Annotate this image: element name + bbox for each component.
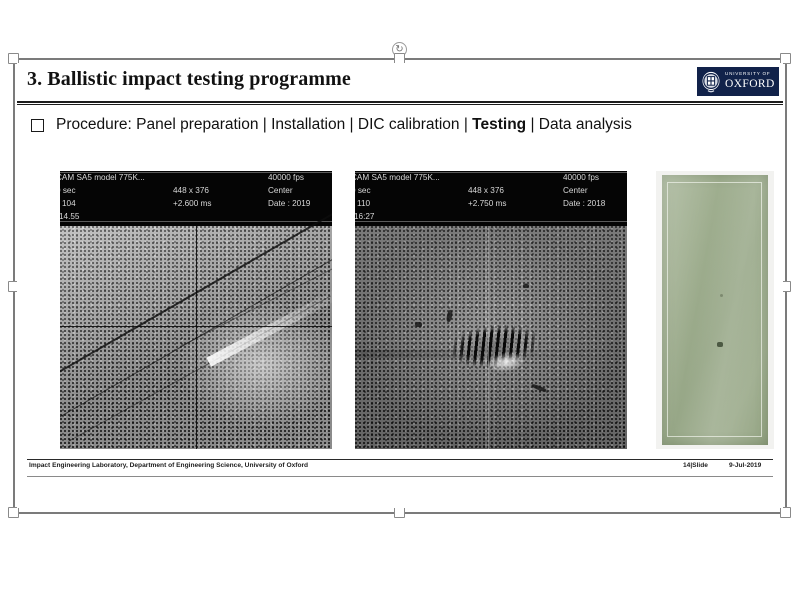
frame2-osd-line-1: CAM SA5 model 775K... 40000 fps [355,173,627,186]
frame2-osd-line-4: 16:27 [355,212,627,225]
frame2-offset-label: +2.750 ms [468,199,506,208]
highspeed-frame-1[interactable]: CAM SA5 model 775K... 40000 fps 0 sec 44… [60,171,332,449]
frame1-osd-overlay: CAM SA5 model 775K... 40000 fps 0 sec 44… [60,171,332,226]
page-title: 3. Ballistic impact testing programme [27,68,351,91]
frame2-osd-line-3: 110 +2.750 ms Date : 2018 [355,199,627,212]
gfrp-panel-photo[interactable] [656,171,774,449]
frame1-frameid-label: 104 [62,199,76,208]
footer-date: 9-Jul-2019 [729,462,761,469]
oxford-logo-line1: UNIVERSITY OF [725,72,775,77]
footer-affiliation: Impact Engineering Laboratory, Departmen… [29,462,308,469]
footer-slide-number: 14|Slide [683,462,708,469]
resize-handle-bottom-center[interactable] [394,507,405,518]
frame1-camera-label: CAM SA5 model 775K... [60,173,145,182]
frame2-fps-label: 40000 fps [563,173,599,182]
frame1-osd-line-4: 14.55 [60,212,332,225]
footer-rule [27,459,773,460]
bullet-text-prefix: Procedure: Panel preparation | Installat… [56,116,472,133]
frame1-fps-label: 40000 fps [268,173,304,182]
bullet-text-emphasis: Testing [472,116,526,133]
slide-content[interactable]: 3. Ballistic impact testing programme UN… [17,63,783,508]
frame2-osd-line-2: 0 sec 448 x 376 Center [355,186,627,199]
bullet-text-suffix: | Data analysis [526,116,632,133]
frame2-shadow-band [355,350,627,358]
oxford-logo: UNIVERSITY OF OXFORD [696,66,780,97]
frame1-osd-line-1: CAM SA5 model 775K... 40000 fps [60,173,332,186]
frame1-crosshair-vertical [196,226,197,449]
frame2-speckle-pattern [355,226,627,449]
slide-editor-canvas: ↻ 3. Ballistic impact testing programme … [0,0,800,600]
square-bullet-icon [31,119,44,132]
resize-handle-bottom-right[interactable] [780,507,791,518]
highspeed-frame-2[interactable]: CAM SA5 model 775K... 40000 fps 0 sec 44… [355,171,627,449]
frame1-clock-label: 14.55 [60,212,80,221]
media-strip: CAM SA5 model 775K... 40000 fps 0 sec 44… [17,171,783,449]
gfrp-panel-sheen [662,175,768,445]
oxford-logo-line2: OXFORD [725,79,775,91]
frame2-resolution-label: 448 x 376 [468,186,504,195]
frame2-trigger-label: Center [563,186,588,195]
frame1-osd-line-2: 0 sec 448 x 376 Center [60,186,332,199]
oxford-logo-text: UNIVERSITY OF OXFORD [725,72,775,90]
frame2-osd-overlay: CAM SA5 model 775K... 40000 fps 0 sec 44… [355,171,627,226]
frame2-frameid-label: 110 [357,199,370,208]
resize-handle-bottom-left[interactable] [8,507,19,518]
frame1-trigger-label: Center [268,186,293,195]
title-rule-thin [17,104,783,105]
frame2-debris-1 [415,322,422,327]
frame1-crosshair-horizontal [60,326,332,327]
title-rule-thick [17,101,783,103]
frame2-date-label: Date : 2018 [563,199,605,208]
frame1-offset-label: +2.600 ms [173,199,211,208]
gfrp-panel-surface [662,175,768,445]
frame2-clock-label: 16:27 [355,212,375,221]
frame1-osd-line-3: 104 +2.600 ms Date : 2019 [60,199,332,212]
footer-rule-secondary [27,476,773,477]
oxford-crest-icon [701,71,721,93]
bullet-text: Procedure: Panel preparation | Installat… [56,116,632,134]
frame2-time-label: 0 sec [355,186,371,195]
frame2-debris-2 [523,284,529,288]
bullet-row[interactable]: Procedure: Panel preparation | Installat… [17,111,783,139]
frame1-time-label: 0 sec [60,186,76,195]
frame1-resolution-label: 448 x 376 [173,186,209,195]
frame2-camera-label: CAM SA5 model 775K... [355,173,440,182]
frame2-crosshair-vertical [488,226,489,449]
frame1-date-label: Date : 2019 [268,199,310,208]
title-row: 3. Ballistic impact testing programme UN… [17,63,783,101]
